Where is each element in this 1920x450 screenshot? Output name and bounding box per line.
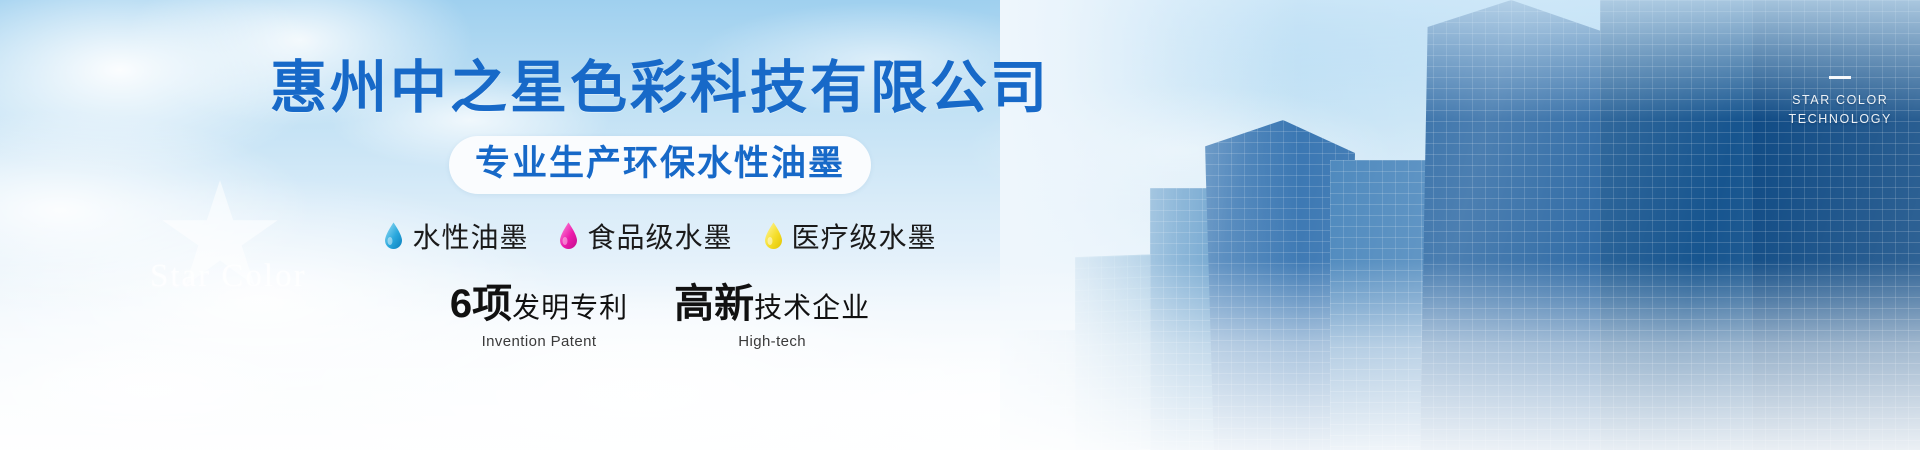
credential-item: 6项发明专利 Invention Patent <box>450 284 628 350</box>
feature-list: 水性油墨 食品级水墨 <box>383 216 936 256</box>
building-block <box>1330 160 1438 450</box>
water-drop-icon <box>763 222 784 250</box>
building-block <box>1420 0 1610 450</box>
feature-item: 食品级水墨 <box>558 216 732 256</box>
credential-main: 高新技术企业 <box>674 284 870 324</box>
tagline-text: 专业生产环保水性油墨 <box>475 143 845 185</box>
building-block <box>1752 0 1920 450</box>
credential-text: 发明专利 <box>512 292 628 323</box>
credential-highlight: 6项 <box>450 282 512 326</box>
credential-list: 6项发明专利 Invention Patent 高新技术企业 High-tech <box>450 284 870 350</box>
banner-content: 惠州中之星色彩科技有限公司 专业生产环保水性油墨 水性油 <box>0 0 1320 450</box>
tagline-pill: 专业生产环保水性油墨 <box>449 136 871 194</box>
water-drop-icon <box>558 222 579 250</box>
credential-item: 高新技术企业 High-tech <box>674 284 870 350</box>
building-block <box>1600 0 1765 450</box>
brand-overlay: STAR COLOR TECHNOLOGY <box>1788 76 1892 130</box>
brand-overlay-line2: TECHNOLOGY <box>1788 112 1892 126</box>
water-drop-icon <box>383 222 404 250</box>
feature-label: 水性油墨 <box>412 216 528 256</box>
feature-item: 医疗级水墨 <box>763 216 937 256</box>
feature-item: 水性油墨 <box>383 216 528 256</box>
credential-subtitle: High-tech <box>674 333 870 350</box>
credential-main: 6项发明专利 <box>450 284 628 324</box>
company-title: 惠州中之星色彩科技有限公司 <box>270 58 1050 118</box>
credential-subtitle: Invention Patent <box>450 333 628 350</box>
promotional-banner: Star Color STAR COLOR TECHNOLOGY 惠州中之星色彩… <box>0 0 1920 450</box>
feature-label: 医疗级水墨 <box>792 216 937 256</box>
divider <box>1829 76 1851 79</box>
credential-text: 技术企业 <box>754 292 870 323</box>
credential-highlight: 高新 <box>674 282 754 326</box>
brand-overlay-line1: STAR COLOR <box>1792 93 1888 107</box>
feature-label: 食品级水墨 <box>587 216 732 256</box>
